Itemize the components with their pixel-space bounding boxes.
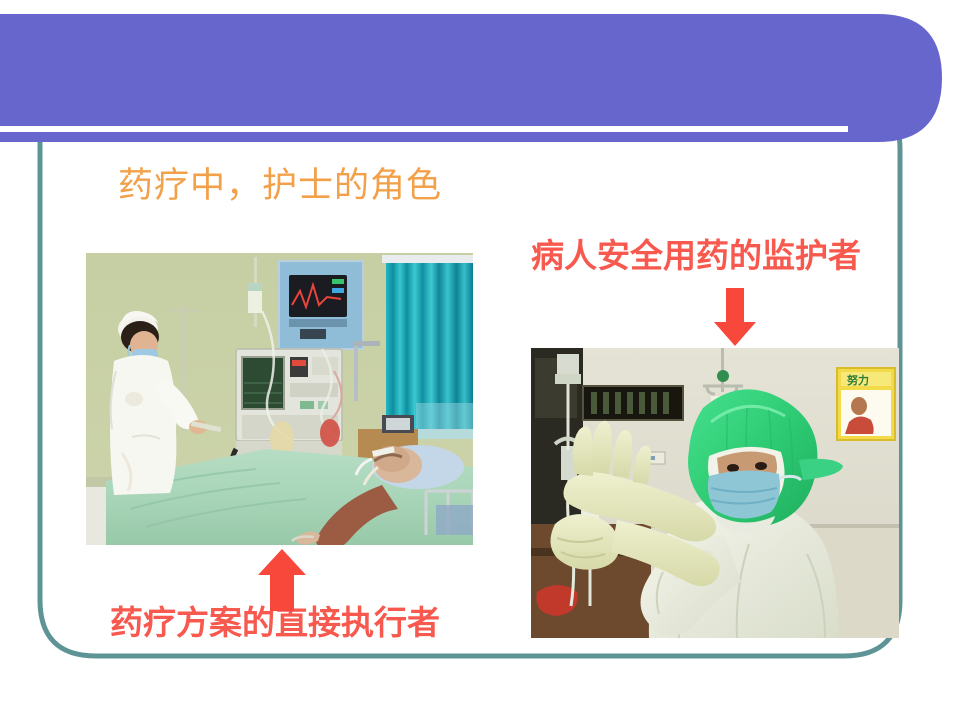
slide-canvas: 药疗中，护士的角色 [0, 0, 960, 720]
up-arrow-icon [256, 549, 308, 611]
svg-text:努力: 努力 [847, 373, 869, 387]
banner-white-rule [0, 126, 848, 132]
page-title: 药疗中，护士的角色 [118, 166, 442, 207]
caption-supervisor-of-safe-medication: 病人安全用药的监护者 [531, 238, 861, 274]
nurse-in-protective-gear-iv-photo: 努力 [531, 348, 899, 638]
down-arrow-icon [706, 288, 764, 346]
icu-nurse-at-bedside-photo [86, 253, 473, 545]
header-banner [0, 14, 942, 142]
